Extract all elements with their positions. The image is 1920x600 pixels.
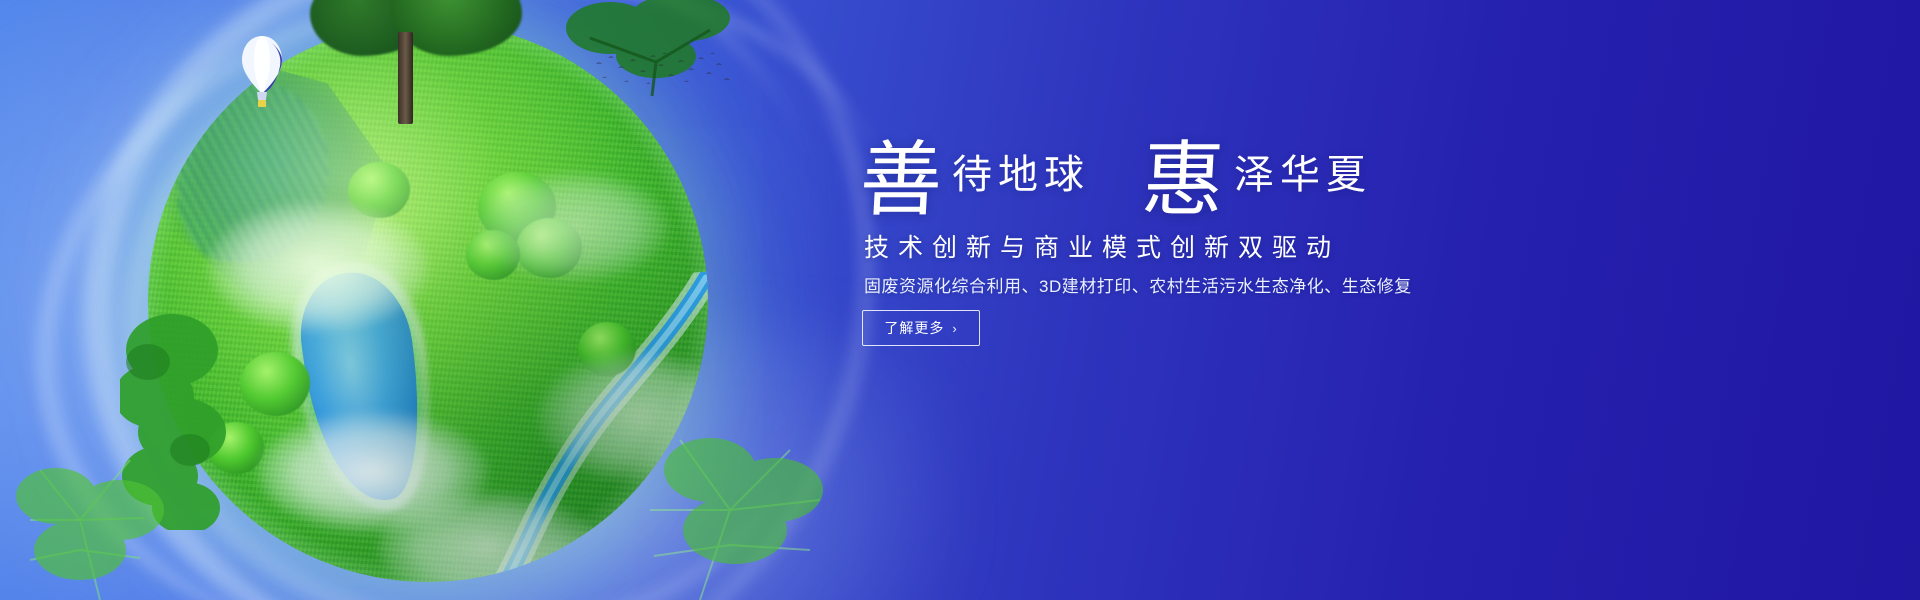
hero-banner: 善待地球 惠泽华夏 技术创新与商业模式创新双驱动 固废资源化综合利用、3D建材打…: [0, 0, 1920, 600]
subtitle: 技术创新与商业模式创新双驱动: [864, 228, 1340, 264]
headline-group-1: 善待地球: [860, 140, 1090, 222]
hero-tree-trunk: [398, 32, 413, 124]
headline-big-char-1: 善: [858, 140, 944, 222]
hot-air-balloon-icon: [238, 34, 286, 116]
learn-more-button[interactable]: 了解更多 ›: [862, 310, 980, 346]
headline-big-char-2: 惠: [1140, 140, 1226, 222]
hero-tree: [300, 0, 530, 122]
chevron-right-icon: ›: [952, 322, 957, 335]
description: 固废资源化综合利用、3D建材打印、农村生活污水生态净化、生态修复: [864, 272, 1412, 297]
headline-rest-2: 泽华夏: [1234, 155, 1372, 195]
rim-tree-bottom-left: [10, 400, 180, 600]
headline: 善待地球 惠泽华夏: [860, 140, 1760, 240]
learn-more-label: 了解更多: [884, 318, 944, 338]
headline-rest-1: 待地球: [952, 155, 1090, 195]
bird-flock-icon: [592, 52, 732, 92]
banner-content: 善待地球 惠泽华夏 技术创新与商业模式创新双驱动 固废资源化综合利用、3D建材打…: [860, 0, 1760, 600]
headline-group-2: 惠泽华夏: [1142, 140, 1372, 222]
